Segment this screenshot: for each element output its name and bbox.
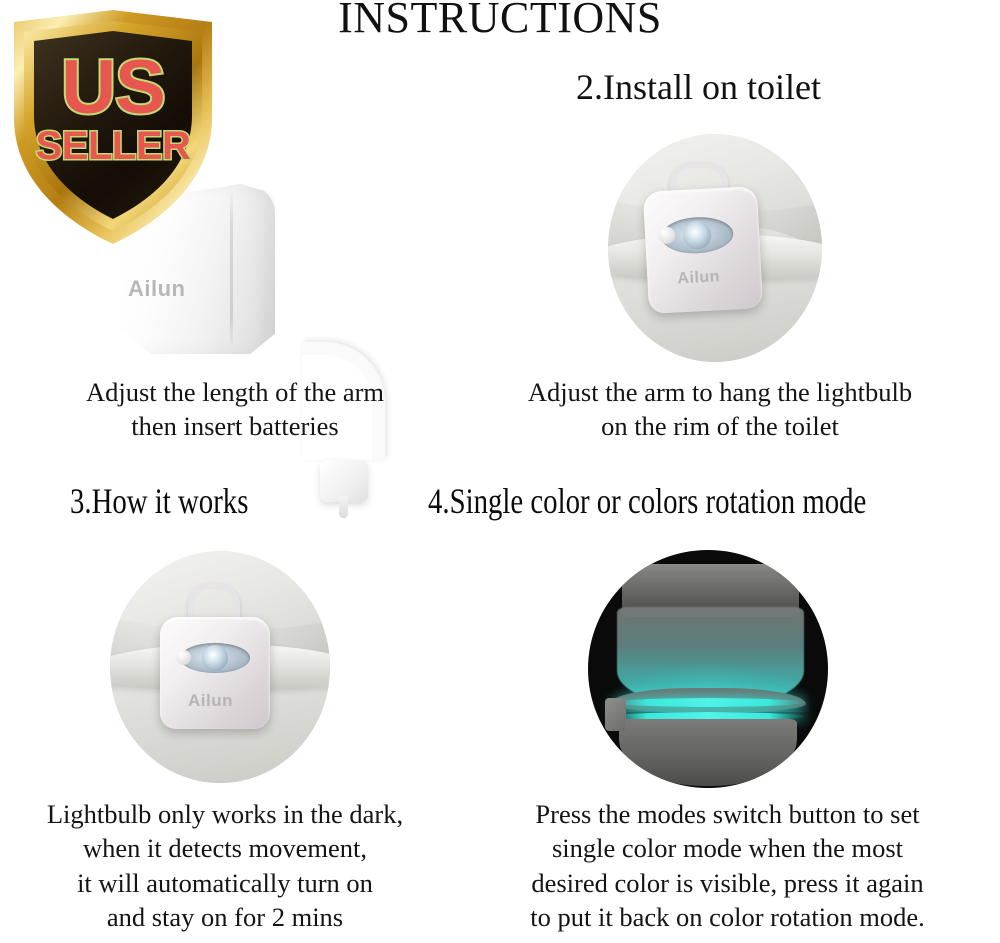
instructions-page: INSTRUCTIONS toilet Ailun Adjust the len… xyxy=(0,0,1000,943)
caption-line: Adjust the arm to hang the lightbulb xyxy=(470,375,970,409)
caption-line: and stay on for 2 mins xyxy=(0,900,450,934)
step-3-caption: Lightbulb only works in the dark, when i… xyxy=(0,797,450,935)
device-brand-label: Ailun xyxy=(128,276,186,302)
step-2-photo: Ailun xyxy=(608,134,822,362)
step-4-caption: Press the modes switch button to set sin… xyxy=(455,797,1000,935)
night-light-device: Ailun xyxy=(643,186,763,314)
step-2-heading: 2.Install on toilet xyxy=(576,66,821,108)
night-light-device: Ailun xyxy=(160,617,270,729)
night-light-device xyxy=(605,698,627,731)
device-brand-label: Ailun xyxy=(677,268,720,288)
step-2-caption: Adjust the arm to hang the lightbulb on … xyxy=(470,375,970,444)
shield-icon xyxy=(8,6,218,248)
led-lens xyxy=(202,645,228,671)
step-4-heading: 4.Single color or colors rotation mode xyxy=(428,480,866,522)
mode-button xyxy=(176,650,191,665)
caption-line: on the rim of the toilet xyxy=(470,409,970,443)
caption-line: when it detects movement, xyxy=(0,831,450,865)
caption-line: Press the modes switch button to set xyxy=(455,797,1000,831)
teal-glow-ring xyxy=(612,698,804,707)
step-4-photo xyxy=(588,550,828,788)
caption-line: to put it back on color rotation mode. xyxy=(455,900,1000,934)
caption-line: then insert batteries xyxy=(10,409,460,443)
us-seller-badge: US SELLER xyxy=(8,6,218,248)
device-prong xyxy=(339,496,348,518)
caption-line: Adjust the length of the arm xyxy=(10,375,460,409)
caption-line: desired color is visible, press it again xyxy=(455,866,1000,900)
step-3-photo: Ailun xyxy=(110,551,330,783)
device-seam xyxy=(230,190,233,348)
caption-line: it will automatically turn on xyxy=(0,866,450,900)
step-1-caption: Adjust the length of the arm then insert… xyxy=(10,375,460,444)
caption-line: Lightbulb only works in the dark, xyxy=(0,797,450,831)
device-brand-label: Ailun xyxy=(188,691,233,711)
step-3-heading: 3.How it works xyxy=(70,480,248,522)
caption-line: single color mode when the most xyxy=(455,831,1000,865)
